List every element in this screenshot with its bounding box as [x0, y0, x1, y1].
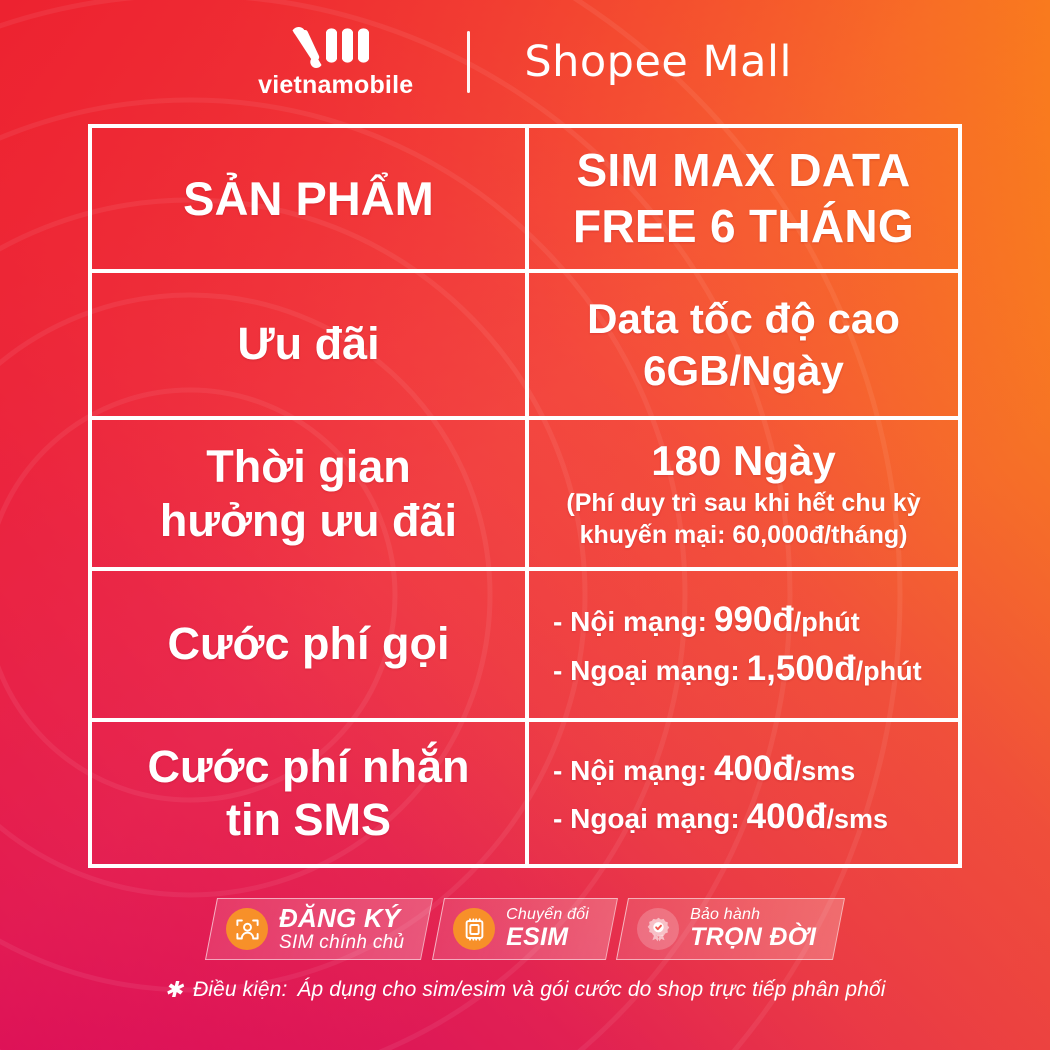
rate-unit: /phút	[794, 604, 860, 641]
header: vietnamobile Shopee Mall	[0, 0, 1050, 124]
rate-amount: 1,500đ	[747, 645, 856, 693]
rate-line: - Ngoại mạng: 400đ /sms	[553, 793, 948, 841]
value-sub-line: (Phí duy trì sau khi hết chu kỳ	[566, 488, 920, 519]
header-divider	[467, 31, 470, 93]
sim-chip-icon	[453, 908, 495, 950]
row-value-product: SIM MAX DATA FREE 6 THÁNG	[529, 128, 958, 269]
row-value-sms-rate: - Nội mạng: 400đ /sms - Ngoại mạng: 400đ…	[529, 722, 958, 864]
rate-amount: 400đ	[714, 745, 794, 793]
rate-line: - Ngoại mạng: 1,500đ /phút	[553, 645, 948, 693]
row-label-text: Ưu đãi	[237, 320, 379, 369]
row-value-duration: 180 Ngày (Phí duy trì sau khi hết chu kỳ…	[529, 420, 958, 567]
badge-subtitle: TRỌN ĐỜI	[690, 924, 816, 952]
row-label-line: tin SMS	[226, 793, 391, 846]
row-value-offer: Data tốc độ cao 6GB/Ngày	[529, 273, 958, 416]
row-label-sms-rate: Cước phí nhắn tin SMS	[92, 722, 529, 864]
shopee-mall-label: Shopee Mall	[524, 37, 792, 87]
rate-list: - Nội mạng: 400đ /sms - Ngoại mạng: 400đ…	[539, 745, 948, 842]
row-label-line: hưởng ưu đãi	[160, 494, 457, 547]
rate-list: - Nội mạng: 990đ /phút - Ngoại mạng: 1,5…	[539, 596, 948, 693]
badge-sim-registration[interactable]: ĐĂNG KÝ SIM chính chủ	[205, 898, 433, 960]
badge-text: ĐĂNG KÝ SIM chính chủ	[279, 904, 404, 953]
row-label-product: SẢN PHẨM	[92, 128, 529, 269]
note-label: Điều kiện:	[193, 978, 287, 1002]
badge-title: Bảo hành	[690, 906, 816, 924]
value-line: 6GB/Ngày	[643, 345, 844, 396]
row-label-line: Cước phí nhắn	[147, 740, 469, 793]
rate-label: - Nội mạng:	[553, 603, 707, 642]
star-icon: ✱	[164, 979, 183, 1001]
rate-unit: /phút	[856, 653, 922, 690]
footer-condition-note: ✱ Điều kiện: Áp dụng cho sim/esim và gói…	[0, 978, 1050, 1002]
vietnamobile-mark-icon	[290, 26, 382, 70]
table-row: Cước phí nhắn tin SMS - Nội mạng: 400đ /…	[92, 718, 958, 864]
spec-table: SẢN PHẨM SIM MAX DATA FREE 6 THÁNG Ưu đã…	[88, 124, 962, 868]
rate-label: - Nội mạng:	[553, 752, 707, 791]
row-label-text: Cước phí gọi	[167, 620, 449, 669]
table-row: Ưu đãi Data tốc độ cao 6GB/Ngày	[92, 269, 958, 416]
warranty-rosette-check-icon	[637, 908, 679, 950]
vietnamobile-logo: vietnamobile	[258, 26, 413, 98]
row-label-duration: Thời gian hưởng ưu đãi	[92, 420, 529, 567]
rate-unit: /sms	[826, 801, 888, 838]
value-line: Data tốc độ cao	[587, 293, 900, 344]
vietnamobile-wordmark: vietnamobile	[258, 73, 413, 98]
badge-esim-conversion[interactable]: Chuyển đổi ESIM	[432, 898, 618, 960]
row-label-offer: Ưu đãi	[92, 273, 529, 416]
table-row: Cước phí gọi - Nội mạng: 990đ /phút - Ng…	[92, 567, 958, 718]
badge-text: Chuyển đổi ESIM	[506, 906, 589, 951]
rate-unit: /sms	[794, 753, 856, 790]
rate-label: - Ngoại mạng:	[553, 652, 740, 691]
value-line: FREE 6 THÁNG	[573, 199, 914, 254]
row-label-line: Thời gian	[206, 440, 410, 493]
badge-subtitle: ESIM	[506, 924, 589, 952]
rate-label: - Ngoại mạng:	[553, 800, 740, 839]
badge-lifetime-warranty[interactable]: Bảo hành TRỌN ĐỜI	[616, 898, 845, 960]
rate-line: - Nội mạng: 990đ /phút	[553, 596, 948, 644]
value-line: SIM MAX DATA	[576, 143, 910, 198]
row-label-call-rate: Cước phí gọi	[92, 571, 529, 718]
note-body: Áp dụng cho sim/esim và gói cước do shop…	[297, 978, 885, 1002]
rate-amount: 400đ	[747, 793, 827, 841]
rate-line: - Nội mạng: 400đ /sms	[553, 745, 948, 793]
row-label-text: SẢN PHẨM	[183, 174, 434, 224]
table-row: Thời gian hưởng ưu đãi 180 Ngày (Phí duy…	[92, 416, 958, 567]
feature-badges: ĐĂNG KÝ SIM chính chủ Chuyển đổi ESIM	[0, 895, 1050, 963]
badge-text: Bảo hành TRỌN ĐỜI	[690, 906, 816, 951]
badge-subtitle: SIM chính chủ	[279, 933, 404, 954]
row-value-call-rate: - Nội mạng: 990đ /phút - Ngoại mạng: 1,5…	[529, 571, 958, 718]
rate-amount: 990đ	[714, 596, 794, 644]
value-main: 180 Ngày	[651, 436, 835, 486]
badge-title: ĐĂNG KÝ	[279, 904, 400, 933]
face-id-person-icon	[226, 908, 268, 950]
value-sub-line: khuyến mại: 60,000đ/tháng)	[580, 520, 908, 551]
table-row: SẢN PHẨM SIM MAX DATA FREE 6 THÁNG	[92, 128, 958, 269]
badge-title: Chuyển đổi	[506, 906, 589, 924]
